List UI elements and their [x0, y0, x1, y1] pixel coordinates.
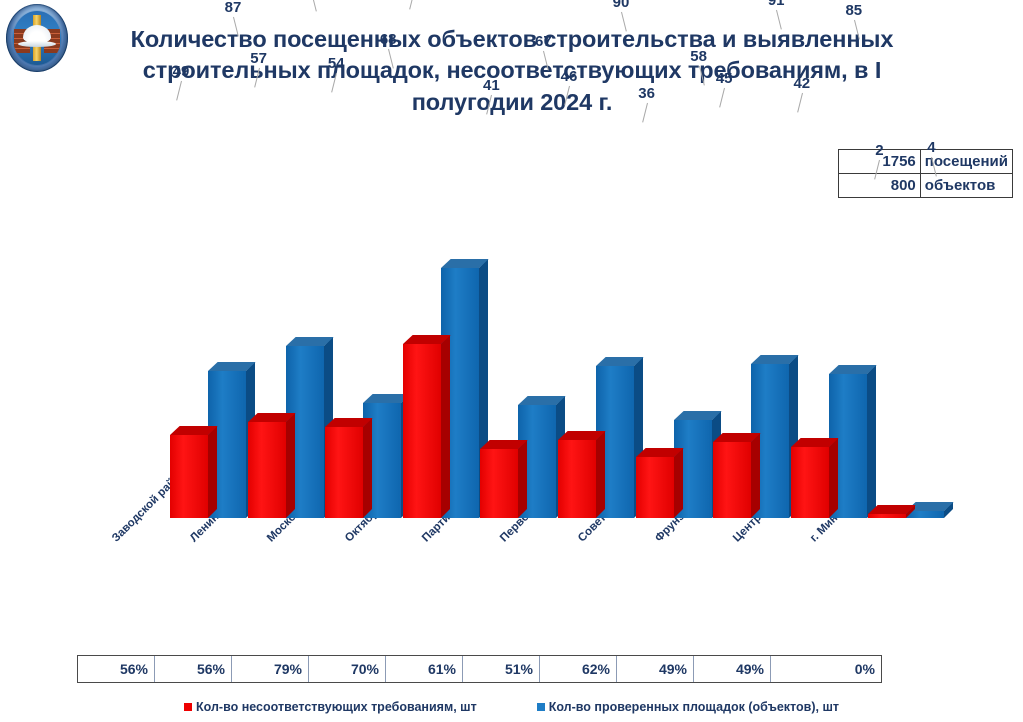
bar-side-face [596, 431, 605, 518]
bar-value-label-blue-7: 91 [756, 0, 796, 9]
bar-value-label-red-7: 45 [704, 70, 744, 87]
bar-side-face [829, 438, 838, 518]
percent-cell-6: 62% [540, 656, 617, 682]
legend-label-1: Кол-во проверенных площадок (объектов), … [549, 700, 839, 714]
bar-front-face [558, 440, 596, 518]
percent-cell-2: 79% [232, 656, 309, 682]
bar-value-label-red-4: 41 [471, 77, 511, 94]
emblem-text-ring [7, 5, 67, 71]
bar-side-face [363, 418, 372, 518]
bar-value-label-red-2: 54 [316, 55, 356, 72]
value-leader-line [311, 0, 317, 11]
chart-legend: Кол-во несоответствующих требованиям, шт… [0, 700, 1023, 714]
legend-item-1[interactable]: Кол-во проверенных площадок (объектов), … [537, 700, 839, 714]
bar-front-face [325, 427, 363, 518]
bar-blue-9 [906, 511, 944, 518]
percent-cell-8: 49% [694, 656, 771, 682]
bar-red-5 [558, 440, 596, 518]
x-axis-labels: Заводской районЛенинский районМосковский… [0, 530, 1023, 635]
bar-red-8 [791, 447, 829, 518]
bar-red-4 [480, 449, 518, 518]
organization-emblem [6, 4, 68, 72]
percent-cell-9: 0% [771, 656, 881, 682]
legend-swatch-icon-1 [537, 703, 545, 711]
bar-side-face [518, 440, 527, 518]
bar-side-face [208, 426, 217, 518]
bar-value-label-blue-8: 85 [834, 2, 874, 19]
bar-front-face [713, 442, 751, 518]
bar-red-9 [868, 514, 906, 518]
bar-front-face [170, 435, 208, 518]
bar-front-face [636, 457, 674, 518]
bar-red-2 [325, 427, 363, 518]
bar-red-6 [636, 457, 674, 518]
bar-front-face [791, 447, 829, 518]
bar-front-face [480, 449, 518, 518]
bar-value-label-blue-6: 58 [679, 48, 719, 65]
bar-red-1 [248, 422, 286, 518]
bar-front-face [248, 422, 286, 518]
bar-side-face [441, 335, 450, 518]
percent-cell-0: 56% [78, 656, 155, 682]
bar-front-face [868, 514, 906, 518]
bar-value-label-blue-9: 4 [911, 139, 951, 156]
percent-cell-4: 61% [386, 656, 463, 682]
bar-red-7 [713, 442, 751, 518]
bar-value-label-red-9: 2 [859, 142, 899, 159]
bar-value-label-blue-2: 68 [368, 31, 408, 48]
page-title: Количество посещенных объектов строитель… [84, 24, 940, 118]
bar-side-face [751, 433, 760, 518]
bar-front-face [906, 511, 944, 518]
percentage-table: 56%56%79%70%61%51%62%49%49%0% [77, 655, 882, 683]
bar-value-label-red-5: 46 [549, 68, 589, 85]
bar-value-label-red-0: 49 [161, 63, 201, 80]
percent-cell-1: 56% [155, 656, 232, 682]
bar-front-face [403, 344, 441, 518]
legend-swatch-icon-0 [184, 703, 192, 711]
bar-side-face [674, 448, 683, 518]
value-leader-line [409, 0, 415, 10]
bar-side-face [286, 413, 295, 518]
legend-label-0: Кол-во несоответствующих требованиям, шт [196, 700, 477, 714]
bar-red-0 [170, 435, 208, 518]
percent-cell-7: 49% [617, 656, 694, 682]
bar-value-label-red-8: 42 [782, 75, 822, 92]
bar-red-3 [403, 344, 441, 518]
bar-chart-plot-area: 4987571025468103148416746903658459142852… [0, 170, 1023, 530]
bar-side-face [867, 365, 876, 518]
bar-value-label-blue-5: 90 [601, 0, 641, 11]
percent-cell-3: 70% [309, 656, 386, 682]
legend-item-0[interactable]: Кол-во несоответствующих требованиям, шт [184, 700, 477, 714]
bar-value-label-red-1: 57 [239, 50, 279, 67]
bar-value-label-blue-4: 67 [523, 33, 563, 50]
bar-value-label-blue-0: 87 [213, 0, 253, 16]
bar-value-label-red-6: 36 [627, 85, 667, 102]
percent-cell-5: 51% [463, 656, 540, 682]
